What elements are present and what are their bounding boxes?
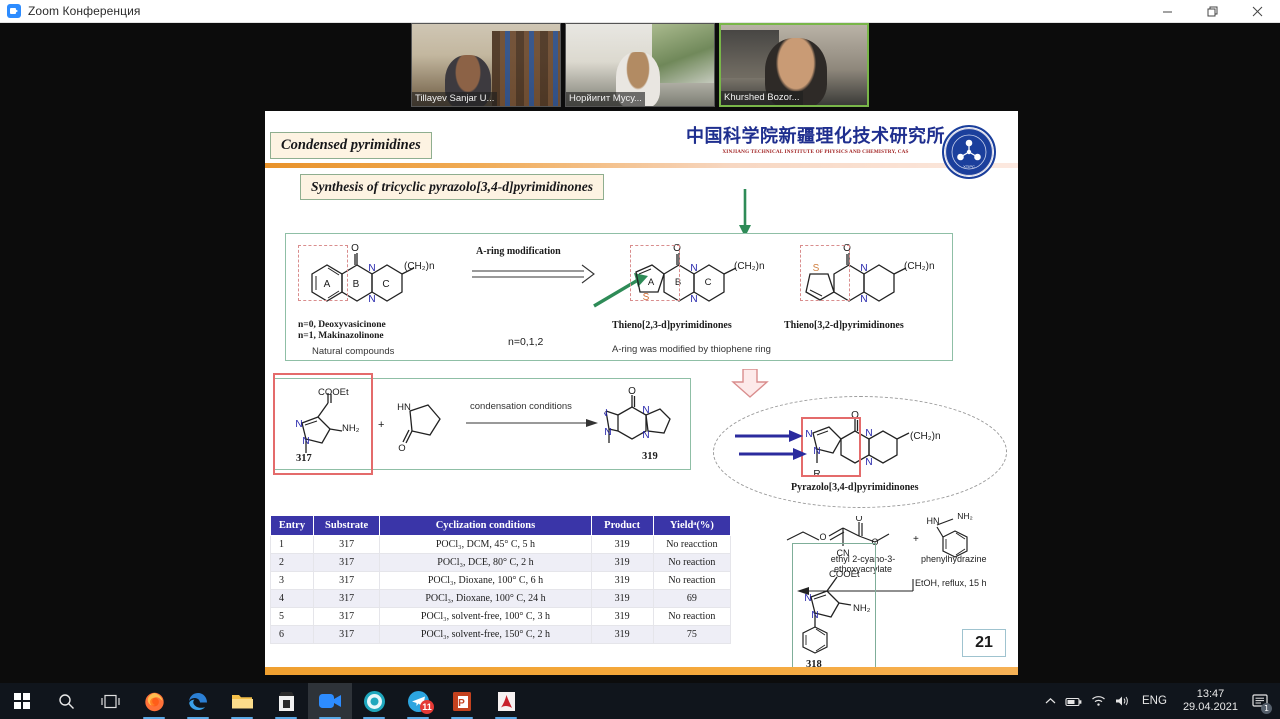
ch2n-label-mid: (CH₂)n [734, 261, 765, 272]
condensation-arrow-icon [466, 417, 598, 429]
zoom-icon [7, 4, 21, 18]
powerpoint-app[interactable]: P [440, 683, 484, 719]
cell-entry: 4 [271, 590, 314, 608]
svg-text:HN: HN [397, 402, 411, 413]
participant-filmstrip: Tillayev Sanjar U... Норйигит Мусу... Kh… [411, 23, 869, 107]
battery-icon[interactable] [1062, 683, 1086, 719]
table-row: 4 317 POCl₃, Dioxane, 100° C, 24 h 319 6… [271, 590, 731, 608]
file-explorer-app[interactable] [220, 683, 264, 719]
column-header-conditions: Cyclization conditions [380, 516, 591, 536]
svg-text:N: N [865, 428, 872, 439]
notification-icon[interactable]: 1 [1246, 683, 1274, 719]
window-titlebar: Zoom Конференция [0, 0, 1280, 23]
wifi-icon[interactable] [1086, 683, 1110, 719]
svg-text:C: C [382, 279, 389, 290]
window-title: Zoom Конференция [28, 4, 141, 18]
desktop-screen: Zoom Конференция [0, 0, 1280, 719]
blue-arrows-icon [735, 429, 807, 467]
reaction-arrow-icon [472, 264, 602, 286]
svg-text:O: O [351, 243, 359, 254]
windows-logo-icon [14, 693, 30, 709]
svg-text:N: N [811, 610, 818, 621]
clock-date: 29.04.2021 [1183, 701, 1238, 714]
plus-sign-mid: + [378, 419, 384, 431]
svg-text:N: N [642, 430, 649, 441]
participant-name: Норйигит Мусу... [566, 92, 645, 106]
institute-seal-icon: XTIPC [942, 125, 996, 179]
media-circle-icon [363, 690, 386, 713]
table-row: 1 317 POCl₃, DCM, 45° C, 5 h 319 No reac… [271, 536, 731, 554]
cell-product: 319 [591, 554, 653, 572]
cell-conditions: POCl₃, DCM, 45° C, 5 h [380, 536, 591, 554]
cell-yield: 75 [653, 626, 730, 644]
label-reagent-phenylhydrazine: phenylhydrazine [921, 554, 987, 564]
note-a-ring-thiophene: A-ring was modified by thiophene ring [612, 344, 771, 355]
cell-conditions: POCl₃, DCE, 80° C, 2 h [380, 554, 591, 572]
slide-page-number: 21 [962, 629, 1006, 657]
institute-logo-text: 中国科学院新疆理化技术研究所 XINJIANG TECHNICAL INSTIT… [673, 127, 958, 155]
plus-sign-bottom: + [913, 534, 919, 545]
minimize-button[interactable] [1145, 0, 1190, 23]
cell-conditions: POCl₃, Dioxane, 100° C, 24 h [380, 590, 591, 608]
label-compound-319: 319 [642, 451, 658, 462]
edge-icon [187, 690, 209, 712]
close-button[interactable] [1235, 0, 1280, 23]
clock[interactable]: 13:47 29.04.2021 [1175, 688, 1246, 713]
participant-name: Tillayev Sanjar U... [412, 92, 497, 106]
cell-entry: 6 [271, 626, 314, 644]
ch2n-label-pyrazolo: (CH₂)n [910, 431, 941, 442]
cell-yield: No reaction [653, 572, 730, 590]
svg-text:N: N [690, 263, 697, 274]
start-button[interactable] [0, 683, 44, 719]
highlight-box-317 [273, 373, 373, 475]
column-header-entry: Entry [271, 516, 314, 536]
label-pyrazolo-3-4-d: Pyrazolo[3,4-d]pyrimidinones [791, 482, 919, 493]
caption-n0: n=0, Deoxyvasicinone [298, 320, 386, 330]
cell-product: 319 [591, 608, 653, 626]
participant-tile[interactable]: Tillayev Sanjar U... [411, 23, 561, 107]
arrow-label-condensation: condensation conditions [470, 401, 572, 412]
cell-yield: No reaction [653, 554, 730, 572]
cell-product: 319 [591, 572, 653, 590]
cell-entry: 3 [271, 572, 314, 590]
cell-entry: 5 [271, 608, 314, 626]
label-thieno-2-3-d: Thieno[2,3-d]pyrimidinones [612, 320, 732, 331]
svg-text:HN: HN [927, 516, 940, 526]
notification-count: 1 [1261, 703, 1272, 714]
svg-text:N: N [368, 263, 375, 274]
dashed-highlight-a-ring-mid [630, 245, 680, 301]
cell-yield: No reaction [653, 608, 730, 626]
telegram-badge: 11 [420, 700, 434, 714]
search-icon [58, 693, 75, 710]
cell-entry: 2 [271, 554, 314, 572]
ch2n-label-right: (CH₂)n [904, 261, 935, 272]
task-view-icon [101, 694, 120, 709]
arrow-label-a-ring-modification: A-ring modification [476, 246, 561, 257]
store-icon [277, 691, 296, 712]
red-hollow-down-arrow-icon [729, 369, 771, 399]
scheme-a-ring-modification: O A B C N N (CH₂)n n=0, Deoxyvasicinone … [285, 233, 953, 361]
n-values-label: n=0,1,2 [508, 336, 543, 348]
participant-tile[interactable]: Норйигит Мусу... [565, 23, 715, 107]
windows-taskbar: 11 P [0, 683, 1280, 719]
participant-tile-active-speaker[interactable]: Khurshed Bozor... [719, 23, 869, 107]
system-tray: ENG 13:47 29.04.2021 1 [1038, 683, 1280, 719]
show-hidden-icons-button[interactable] [1038, 683, 1062, 719]
language-indicator[interactable]: ENG [1134, 695, 1175, 707]
folder-icon [231, 692, 254, 711]
institute-name-en: XINJIANG TECHNICAL INSTITUTE OF PHYSICS … [673, 149, 958, 155]
task-view-button[interactable] [88, 683, 132, 719]
svg-text:O: O [819, 532, 826, 542]
cell-yield: 69 [653, 590, 730, 608]
caption-natural-compounds: Natural compounds [312, 346, 394, 357]
speaker-icon[interactable] [1110, 683, 1134, 719]
cell-conditions: POCl₃, Dioxane, 100° C, 6 h [380, 572, 591, 590]
column-header-substrate: Substrate [313, 516, 379, 536]
table-row: 3 317 POCl₃, Dioxane, 100° C, 6 h 319 No… [271, 572, 731, 590]
cell-conditions: POCl₃, solvent-free, 150° C, 2 h [380, 626, 591, 644]
highlight-box-pyrazolo-core [801, 417, 861, 477]
label-thieno-3-2-d: Thieno[3,2-d]pyrimidinones [784, 320, 904, 331]
svg-text:O: O [855, 516, 862, 523]
svg-text:NH₂: NH₂ [957, 511, 973, 521]
participant-name: Khurshed Bozor... [721, 91, 803, 105]
svg-text:P: P [458, 698, 465, 709]
label-cooet-318: COOEt [829, 569, 860, 580]
cell-entry: 1 [271, 536, 314, 554]
telegram-app[interactable]: 11 [396, 683, 440, 719]
table-row: 5 317 POCl₃, solvent-free, 100° C, 3 h 3… [271, 608, 731, 626]
cell-product: 319 [591, 536, 653, 554]
column-header-product: Product [591, 516, 653, 536]
slide-subtitle-pill: Synthesis of tricyclic pyrazolo[3,4-d]py… [300, 174, 604, 200]
cell-substrate: 317 [313, 608, 379, 626]
cell-yield: No reacction [653, 536, 730, 554]
label-nh2-318: NH₂ [853, 603, 870, 614]
svg-text:B: B [353, 279, 360, 290]
dashed-highlight-a-ring-right [800, 245, 850, 301]
search-button[interactable] [44, 683, 88, 719]
zoom-icon [318, 692, 342, 711]
microsoft-store-app[interactable] [264, 683, 308, 719]
ch2n-label: (CH₂)n [404, 261, 435, 272]
svg-text:O: O [398, 443, 405, 454]
cell-conditions: POCl₃, solvent-free, 100° C, 3 h [380, 608, 591, 626]
firefox-icon [143, 690, 166, 713]
cell-product: 319 [591, 626, 653, 644]
table-header-row: Entry Substrate Cyclization conditions P… [271, 516, 731, 536]
adobe-reader-icon [497, 691, 516, 712]
cell-substrate: 317 [313, 536, 379, 554]
svg-text:C: C [705, 277, 712, 288]
cell-substrate: 317 [313, 572, 379, 590]
label-conditions-etoh: EtOH, reflux, 15 h [915, 578, 987, 588]
svg-text:O: O [628, 386, 636, 397]
svg-text:XTIPC: XTIPC [963, 164, 975, 169]
table-row: 6 317 POCl₃, solvent-free, 150° C, 2 h 3… [271, 626, 731, 644]
shared-slide: Condensed pyrimidines Synthesis of tricy… [265, 111, 1018, 675]
powerpoint-icon: P [452, 691, 472, 712]
svg-text:N: N [865, 457, 872, 468]
svg-text:N: N [860, 263, 867, 274]
header-rule [265, 163, 1018, 168]
cell-substrate: 317 [313, 590, 379, 608]
green-down-arrow-icon [735, 189, 755, 239]
window-controls [1145, 0, 1280, 23]
slide-title-pill: Condensed pyrimidines [270, 132, 432, 159]
cell-product: 319 [591, 590, 653, 608]
cell-substrate: 317 [313, 626, 379, 644]
svg-text:N: N [642, 405, 649, 416]
dashed-highlight-a-ring [298, 245, 348, 301]
column-header-yield: Yieldᵃ(%) [653, 516, 730, 536]
zoom-meeting-area: Tillayev Sanjar U... Норйигит Мусу... Kh… [0, 23, 1280, 683]
svg-text:N: N [368, 294, 375, 305]
firefox-app[interactable] [132, 683, 176, 719]
reaction-conditions-table: Entry Substrate Cyclization conditions P… [270, 515, 731, 644]
institute-name-cn: 中国科学院新疆理化技术研究所 [673, 127, 958, 147]
caption-n1: n=1, Makinazolinone [298, 331, 384, 341]
svg-text:N: N [604, 427, 611, 438]
adobe-reader-app[interactable] [484, 683, 528, 719]
slide-footer-bar [265, 667, 1018, 675]
restore-button[interactable] [1190, 0, 1235, 23]
edge-app[interactable] [176, 683, 220, 719]
structure-pyrrolidinone: HN O [392, 393, 462, 455]
media-app[interactable] [352, 683, 396, 719]
svg-text:N: N [690, 294, 697, 305]
clock-time: 13:47 [1183, 688, 1238, 701]
svg-text:N: N [804, 593, 811, 604]
svg-text:N: N [604, 408, 608, 419]
table-row: 2 317 POCl₃, DCE, 80° C, 2 h 319 No reac… [271, 554, 731, 572]
svg-text:N: N [860, 294, 867, 305]
cell-substrate: 317 [313, 554, 379, 572]
zoom-app[interactable] [308, 683, 352, 719]
